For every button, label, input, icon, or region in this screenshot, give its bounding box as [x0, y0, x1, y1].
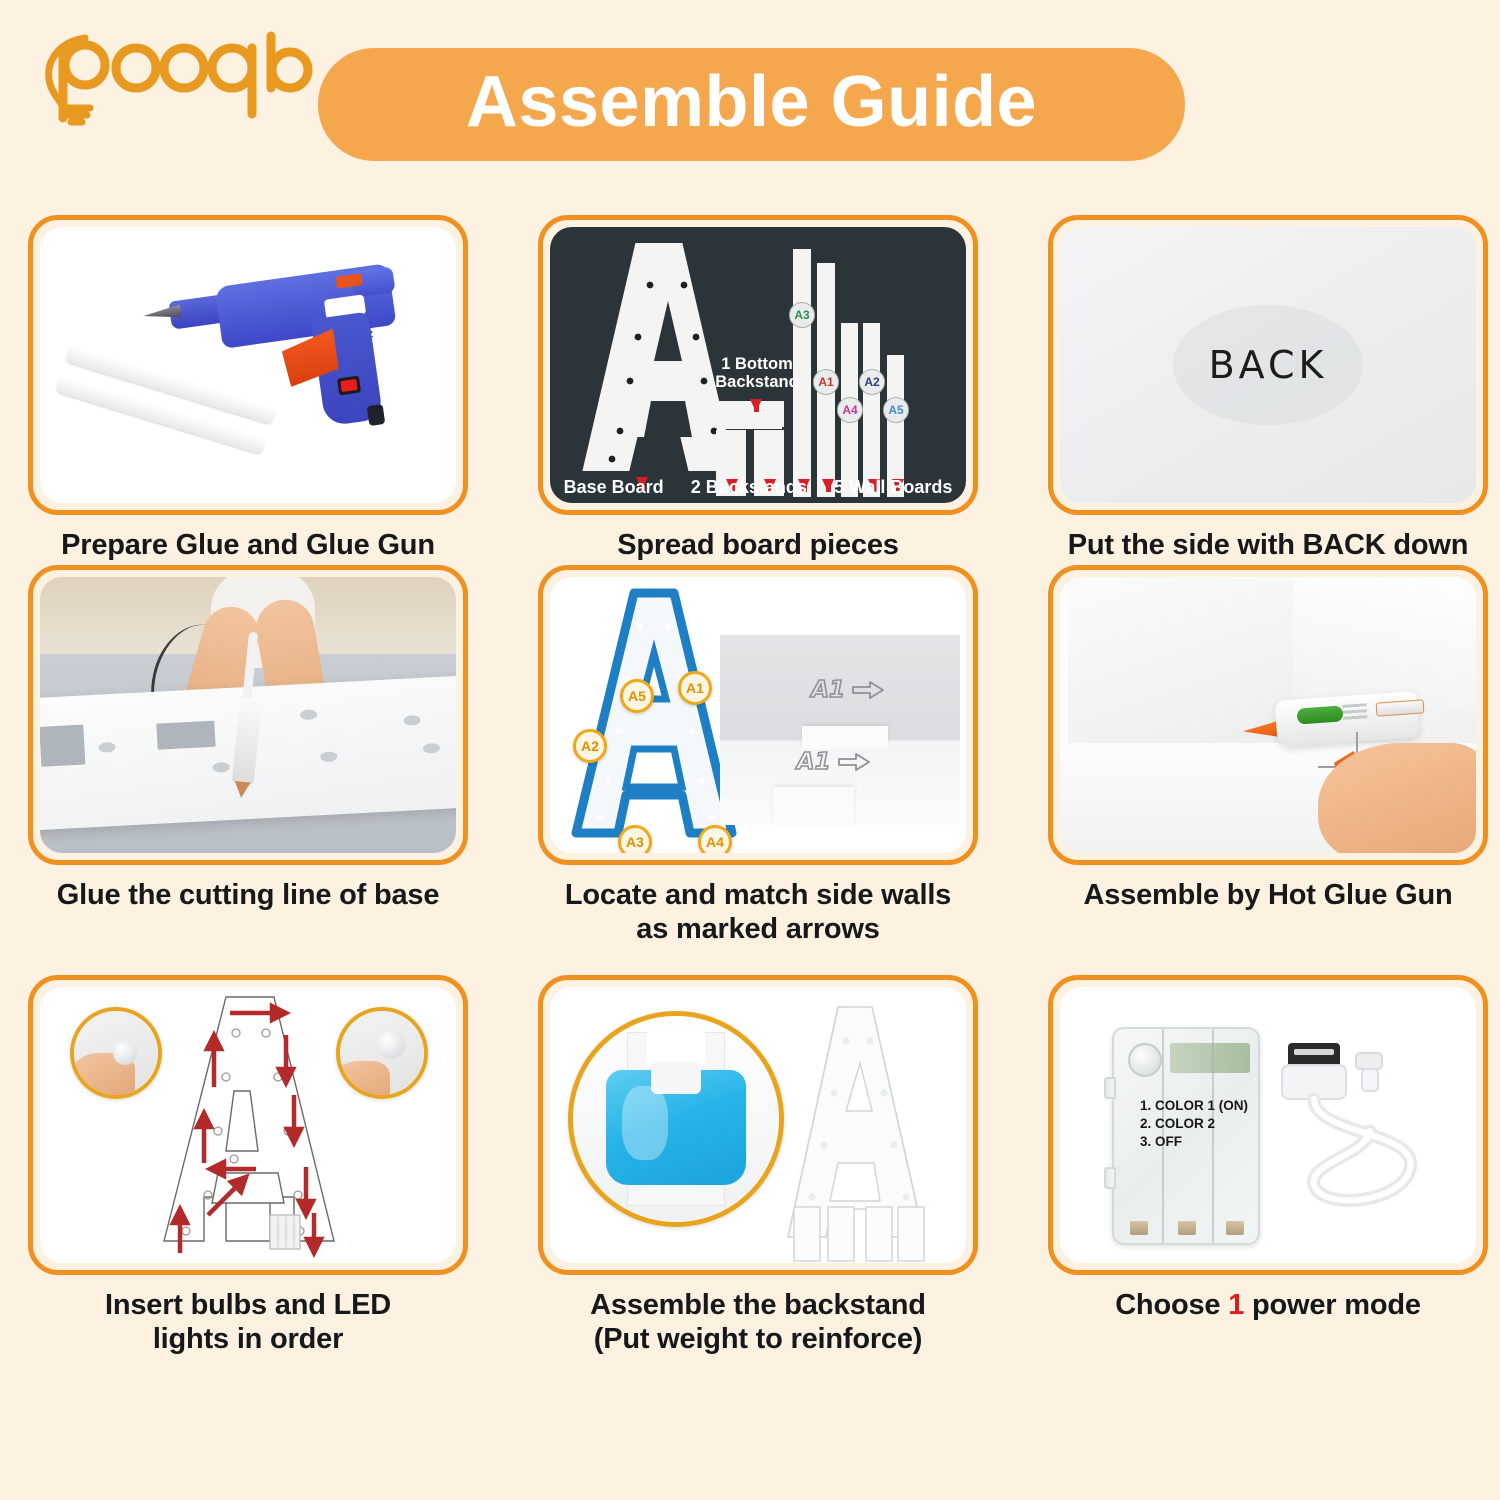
letter-a-with-backstand [766, 1001, 956, 1263]
step-card-4: Glue the cutting line of base [28, 565, 468, 975]
water-bag-highlight [622, 1086, 667, 1160]
mark-a1-upper: A1 [811, 677, 885, 703]
step-9-image: 1. COLOR 1 (ON) 2. COLOR 2 3. OFF [1048, 975, 1488, 1275]
board-slot-2 [156, 721, 215, 750]
step-7-caption: Insert bulbs and LED lights in order [105, 1288, 391, 1356]
step-1-caption: Prepare Glue and Glue Gun [61, 528, 435, 562]
step-9-caption-part-3: power mode [1244, 1289, 1421, 1321]
board-hole-3 [300, 710, 318, 721]
step-8-image [538, 975, 978, 1275]
wall-badge-a4: A4 [837, 397, 863, 423]
bottom-backstand-piece [724, 413, 782, 429]
arrow-right-icon-1 [851, 680, 885, 700]
battery-side-tab-top [1104, 1077, 1116, 1099]
battery-pcb [1170, 1043, 1250, 1073]
back-label: BACK [1209, 343, 1328, 387]
inset-photo-bulb-insert [70, 1007, 162, 1099]
legend-backstands: 2 Backstands [691, 477, 807, 498]
wall-badge-a3: A3 [789, 302, 815, 328]
step-7-image [28, 975, 468, 1275]
step-5-caption-line-1: Locate and match side walls [565, 878, 951, 912]
battery-contact-2 [1178, 1221, 1196, 1235]
step-4-image [28, 565, 468, 865]
glue-gun-power-switch [337, 376, 361, 396]
step-9-caption-part-1: Choose [1115, 1289, 1228, 1321]
step-card-1: Prepare Glue and Glue Gun [28, 215, 468, 565]
power-mode-3: 3. OFF [1140, 1133, 1248, 1151]
page-title-banner: Assemble Guide [318, 48, 1185, 161]
board-hole-6 [423, 744, 441, 755]
gluing-photo [40, 577, 456, 853]
board-hole-2 [213, 763, 231, 774]
board-hole-5 [404, 715, 422, 726]
step-card-3: BACK Put the side with BACK down [1048, 215, 1488, 565]
step-5-image: A1 A5 A2 A3 A4 A1 [538, 565, 978, 865]
wall-board-a2 [863, 323, 880, 497]
bottom-backstand-label: 1 Bottom Backstand [698, 355, 816, 392]
hot-glue-gun-vent [1342, 703, 1367, 721]
legend-wall-boards: 5 Wall Boards [834, 477, 952, 498]
step-5-caption-line-2: as marked arrows [565, 912, 951, 946]
step-card-7: Insert bulbs and LED lights in order [28, 975, 468, 1395]
battery-box: 1. COLOR 1 (ON) 2. COLOR 2 3. OFF [1112, 1027, 1260, 1245]
side-wall-badge-a4: A4 [698, 825, 732, 853]
step-1-image [28, 215, 468, 515]
steps-grid: Prepare Glue and Glue Gun [28, 215, 1478, 1395]
side-wall-badge-a2: A2 [573, 729, 607, 763]
step-6-image [1048, 565, 1488, 865]
step-3-image: BACK [1048, 215, 1488, 515]
inset-2-bulb [377, 1031, 405, 1059]
step-card-8: Assemble the backstand (Put weight to re… [538, 975, 978, 1395]
step-card-2: A3 A1 A4 A2 A5 1 Bottom Backstand Base B… [538, 215, 978, 565]
hot-glue-gun-label [1297, 705, 1344, 724]
step-5-caption: Locate and match side walls as marked ar… [565, 878, 951, 946]
step-card-9: 1. COLOR 1 (ON) 2. COLOR 2 3. OFF [1048, 975, 1488, 1395]
page-title: Assemble Guide [466, 66, 1037, 144]
battery-side-tab-bottom [1104, 1167, 1116, 1189]
arrow-to-bottom-backstand [750, 399, 762, 412]
brand-logo: pooqla [28, 18, 298, 128]
wall-badge-a2: A2 [859, 369, 885, 395]
usb-cable [1270, 1035, 1440, 1245]
step-7-caption-line-1: Insert bulbs and LED [105, 1288, 391, 1322]
mark-a1-lower: A1 [797, 749, 871, 775]
power-mode-1: 1. COLOR 1 (ON) [1140, 1097, 1248, 1115]
step-6-caption: Assemble by Hot Glue Gun [1083, 878, 1452, 912]
step-card-6: Assemble by Hot Glue Gun [1048, 565, 1488, 975]
step-9-caption-highlight: 1 [1228, 1289, 1244, 1321]
wall-board-a5 [887, 355, 904, 497]
piece-legend: Base Board 2 Backstands 5 Wall Boards [550, 477, 966, 498]
photo-tab-lower [773, 787, 855, 825]
step-8-caption-line-2: (Put weight to reinforce) [590, 1322, 926, 1356]
side-wall-badge-a5: A5 [620, 679, 654, 713]
side-wall-badge-a3: A3 [618, 825, 652, 853]
board-slot-1 [40, 725, 86, 767]
board-hole-4 [320, 752, 338, 763]
step-8-caption: Assemble the backstand (Put weight to re… [590, 1288, 926, 1356]
page-header: pooqla Assemble Guide [0, 0, 1500, 195]
side-wall-photo: A1 A1 [720, 635, 960, 825]
power-mode-list: 1. COLOR 1 (ON) 2. COLOR 2 3. OFF [1140, 1097, 1248, 1150]
wall-badge-a5: A5 [883, 397, 909, 423]
step-8-caption-line-1: Assemble the backstand [590, 1288, 926, 1322]
step-9-caption: Choose 1 power mode [1115, 1288, 1421, 1322]
power-mode-2: 2. COLOR 2 [1140, 1115, 1248, 1133]
step-7-caption-line-2: lights in order [105, 1322, 391, 1356]
arrow-right-icon-2 [837, 752, 871, 772]
side-wall-badge-a1: A1 [678, 671, 712, 705]
photo-tab-upper [802, 726, 888, 749]
step-card-5: A1 A5 A2 A3 A4 A1 [538, 565, 978, 975]
step-4-caption: Glue the cutting line of base [57, 878, 440, 912]
battery-contact-1 [1130, 1221, 1148, 1235]
inset-photo-weight [568, 1011, 784, 1227]
step-2-image: A3 A1 A4 A2 A5 1 Bottom Backstand Base B… [538, 215, 978, 515]
battery-contact-3 [1226, 1221, 1244, 1235]
inset-2-hand [336, 1061, 390, 1099]
step-3-caption: Put the side with BACK down [1068, 528, 1469, 562]
step-2-caption: Spread board pieces [617, 528, 898, 562]
foam-panel-right [1293, 577, 1476, 709]
battery-mode-knob[interactable] [1128, 1043, 1162, 1077]
board-hole-1 [99, 742, 117, 753]
inset-photo-bulb-screw [336, 1007, 428, 1099]
legend-base-board: Base Board [564, 477, 664, 498]
glue-gun-cord-cap [367, 404, 386, 426]
wall-badge-a1: A1 [813, 369, 839, 395]
